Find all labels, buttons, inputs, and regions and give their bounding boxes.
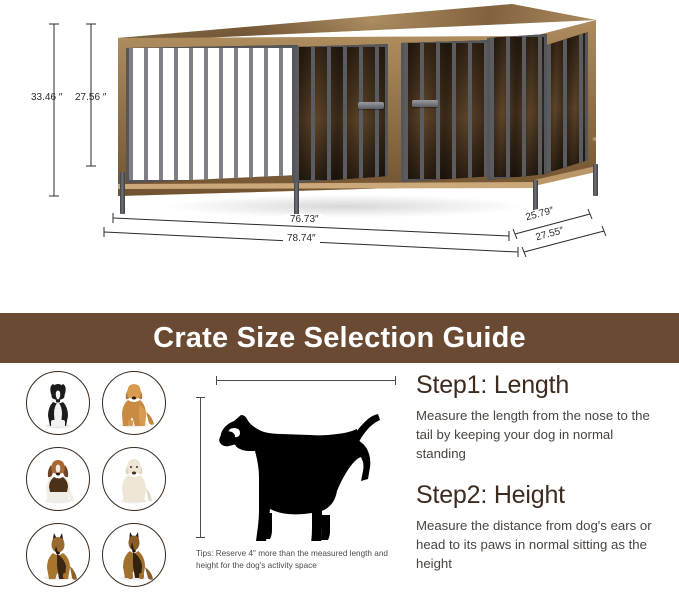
- breed-circle-border-collie: [26, 371, 90, 435]
- dim-label-width-body: 76.73″: [286, 214, 323, 225]
- steps-list: Step1: Length Measure the length from th…: [416, 371, 666, 591]
- breed-circle-labrador-retriever: [102, 447, 166, 511]
- german-shepherd-alert-icon: [103, 524, 165, 586]
- step-2-title: Step2: Height: [416, 481, 666, 510]
- dim-label-height-body: 27.56 ″: [75, 92, 106, 103]
- left-kennel-bars: [129, 48, 295, 180]
- crate-leg-front-right: [533, 180, 538, 212]
- crate-left-kennel: [126, 45, 298, 183]
- crate-tabletop: [96, 4, 596, 38]
- right-door-bars: [404, 43, 490, 179]
- crate-right-kennel: [487, 34, 547, 180]
- dog-crate-illustration: [96, 4, 596, 214]
- breed-circle-beagle: [26, 447, 90, 511]
- dim-label-height-total: 33.46 ″: [31, 92, 62, 103]
- product-dimension-diagram: 33.46 ″ 27.56 ″ 76.73″ 78.74″ 25.79″ 27.…: [0, 0, 679, 313]
- step-1-title: Step1: Length: [416, 371, 666, 400]
- size-guide-content: Tips: Reserve 4″ more than the measured …: [0, 363, 679, 599]
- measurement-illustration: Tips: Reserve 4″ more than the measured …: [190, 367, 405, 599]
- crate-leg-back-right: [593, 164, 598, 196]
- labrador-retriever-icon: [103, 448, 165, 510]
- breed-photo-grid: [26, 371, 178, 593]
- step-1-description: Measure the length from the nose to the …: [416, 406, 666, 463]
- german-shepherd-sitting-icon: [27, 524, 89, 586]
- banner-title: Crate Size Selection Guide: [153, 322, 526, 355]
- right-door-latch-icon[interactable]: [412, 100, 438, 107]
- length-measure-cap-right: [395, 376, 396, 385]
- dog-silhouette-icon: [204, 393, 396, 541]
- crate-side-kennel: [544, 30, 588, 174]
- step-2-description: Measure the distance from dog's ears or …: [416, 516, 666, 573]
- tips-text: Tips: Reserve 4″ more than the measured …: [196, 548, 401, 572]
- crate-right-door[interactable]: [401, 40, 493, 182]
- crate-size-guide-banner: Crate Size Selection Guide: [0, 313, 679, 363]
- golden-retriever-icon: [103, 372, 165, 434]
- right-kennel-bars: [490, 37, 544, 177]
- breed-circle-golden-retriever: [102, 371, 166, 435]
- left-door-latch-icon[interactable]: [358, 102, 384, 109]
- beagle-icon: [27, 448, 89, 510]
- length-measure-cap-left: [216, 376, 217, 385]
- crate-leg-front-left: [120, 172, 125, 214]
- side-kennel-bars: [547, 33, 585, 171]
- crate-left-door[interactable]: [292, 44, 388, 183]
- crate-leg-front-mid: [294, 182, 299, 218]
- length-measure-line: [216, 380, 396, 381]
- breed-circle-german-shepherd-sitting: [26, 523, 90, 587]
- step-1: Step1: Length Measure the length from th…: [416, 371, 666, 463]
- height-measure-line: [200, 397, 201, 538]
- border-collie-icon: [27, 372, 89, 434]
- step-2: Step2: Height Measure the distance from …: [416, 481, 666, 573]
- breed-circle-german-shepherd-alert: [102, 523, 166, 587]
- dim-label-width-total: 78.74″: [283, 233, 320, 244]
- left-door-bars: [295, 47, 385, 180]
